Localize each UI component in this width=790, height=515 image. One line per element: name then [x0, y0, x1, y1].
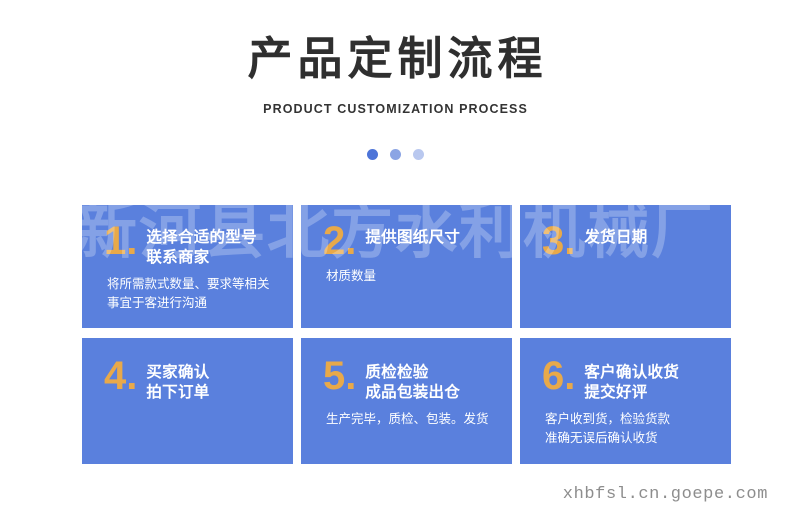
process-card-grid: 1. 选择合适的型号联系商家 将所需款式数量、要求等相关事宜于客进行沟通 2. …: [82, 205, 732, 464]
process-card-4: 4. 买家确认拍下订单: [82, 338, 293, 464]
dot-3-icon: [413, 149, 424, 160]
process-card-3-heading: 发货日期: [584, 223, 647, 247]
process-card-4-top: 4. 买家确认拍下订单: [82, 338, 293, 403]
process-card-1: 1. 选择合适的型号联系商家 将所需款式数量、要求等相关事宜于客进行沟通: [82, 205, 293, 328]
process-card-4-number: 4.: [104, 358, 137, 395]
process-card-6-body: 客户收到货，检验货款准确无误后确认收货: [520, 403, 731, 448]
process-card-5: 5. 质检检验成品包装出仓 生产完毕，质检、包装。发货: [301, 338, 512, 464]
process-card-1-top: 1. 选择合适的型号联系商家: [82, 205, 293, 268]
process-card-4-heading: 买家确认拍下订单: [146, 358, 209, 403]
process-card-2-number: 2.: [323, 223, 356, 260]
process-card-2-body: 材质数量: [301, 260, 512, 285]
process-card-1-body: 将所需款式数量、要求等相关事宜于客进行沟通: [82, 268, 293, 313]
process-card-1-number: 1.: [104, 223, 137, 260]
dot-2-icon: [390, 149, 401, 160]
process-card-3: 3. 发货日期: [520, 205, 731, 328]
process-card-5-number: 5.: [323, 358, 356, 395]
process-card-2: 2. 提供图纸尺寸 材质数量: [301, 205, 512, 328]
process-card-2-top: 2. 提供图纸尺寸: [301, 205, 512, 260]
dot-1-icon: [367, 149, 378, 160]
process-card-6-heading: 客户确认收货提交好评: [584, 358, 679, 403]
page-subtitle: PRODUCT CUSTOMIZATION PROCESS: [0, 84, 790, 116]
process-card-2-heading: 提供图纸尺寸: [365, 223, 460, 247]
page-header: 产品定制流程 PRODUCT CUSTOMIZATION PROCESS: [0, 0, 790, 116]
process-card-5-top: 5. 质检检验成品包装出仓: [301, 338, 512, 403]
process-card-3-number: 3.: [542, 223, 575, 260]
process-card-3-top: 3. 发货日期: [520, 205, 731, 260]
source-url-watermark: xhbfsl.cn.goepe.com: [563, 485, 768, 504]
process-card-5-body: 生产完毕，质检、包装。发货: [301, 403, 512, 428]
process-card-6-number: 6.: [542, 358, 575, 395]
page-root: 产品定制流程 PRODUCT CUSTOMIZATION PROCESS 新河县…: [0, 0, 790, 515]
dot-indicator-group: [0, 149, 790, 160]
process-card-6: 6. 客户确认收货提交好评 客户收到货，检验货款准确无误后确认收货: [520, 338, 731, 464]
process-card-1-heading: 选择合适的型号联系商家: [146, 223, 257, 268]
process-card-5-heading: 质检检验成品包装出仓: [365, 358, 460, 403]
page-title: 产品定制流程: [0, 0, 790, 84]
process-card-6-top: 6. 客户确认收货提交好评: [520, 338, 731, 403]
